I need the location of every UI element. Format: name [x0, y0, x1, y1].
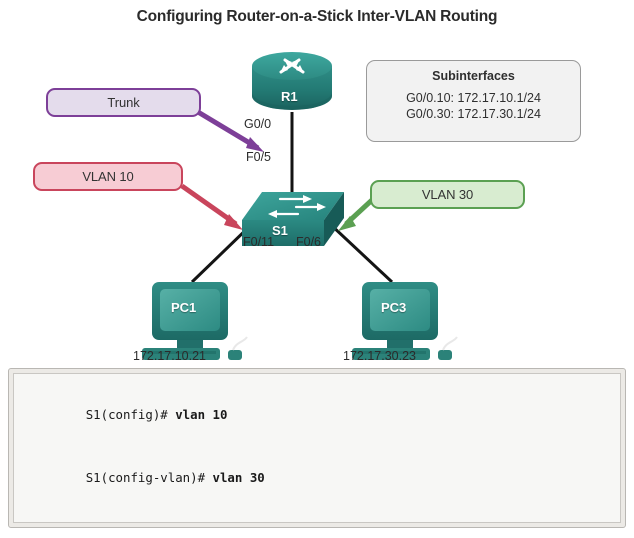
callout-vlan30-label: VLAN 30: [422, 187, 473, 202]
ip-label-pc3: 172.17.30.23: [343, 349, 416, 363]
pc-label-pc1: PC1: [171, 300, 196, 315]
subinterface-line-2: G0/0.30: 172.17.30.1/24: [406, 106, 541, 122]
callout-vlan10-label: VLAN 10: [82, 169, 133, 184]
callout-vlan30[interactable]: VLAN 30: [370, 180, 525, 209]
callout-trunk-label: Trunk: [107, 95, 139, 110]
cli-command: vlan 30: [213, 470, 265, 485]
subinterfaces-list: G0/0.10: 172.17.10.1/24 G0/0.30: 172.17.…: [406, 90, 541, 122]
router-label-r1: R1: [281, 89, 298, 104]
callout-trunk[interactable]: Trunk: [46, 88, 201, 117]
network-topology-diagram: R1 S1 PC1 PC3 G0/0 F0/5 F0/11 F0/6 172.1…: [0, 34, 634, 364]
cli-prompt: S1(config-vlan)#: [86, 470, 213, 485]
port-label-f0-5: F0/5: [246, 150, 271, 164]
port-label-g0-0: G0/0: [244, 117, 271, 131]
diagram-page: Configuring Router-on-a-Stick Inter-VLAN…: [0, 0, 634, 538]
pc-label-pc3: PC3: [381, 300, 406, 315]
link-s1-to-pc3: [330, 224, 392, 282]
cli-line: S1(config-vlan)# interface f0/5: [26, 509, 610, 523]
subinterfaces-heading: Subinterfaces: [432, 69, 515, 83]
vlan10-callout-arrow: [182, 186, 243, 230]
cli-line: S1(config-vlan)# vlan 30: [26, 446, 610, 509]
ip-label-pc1: 172.17.10.21: [133, 349, 206, 363]
switch-label-s1: S1: [272, 223, 288, 238]
page-title: Configuring Router-on-a-Stick Inter-VLAN…: [0, 8, 634, 26]
cli-output-body[interactable]: S1(config)# vlan 10 S1(config-vlan)# vla…: [13, 373, 621, 523]
port-label-f0-6: F0/6: [296, 235, 321, 249]
port-label-f0-11: F0/11: [243, 235, 274, 249]
subinterfaces-panel: Subinterfaces G0/0.10: 172.17.10.1/24 G0…: [366, 60, 581, 142]
callout-vlan10[interactable]: VLAN 10: [33, 162, 183, 191]
cli-output-panel: S1(config)# vlan 10 S1(config-vlan)# vla…: [8, 368, 626, 528]
cli-line: S1(config)# vlan 10: [26, 383, 610, 446]
subinterface-line-1: G0/0.10: 172.17.10.1/24: [406, 90, 541, 106]
cli-prompt: S1(config)#: [86, 407, 176, 422]
cli-command: vlan 10: [175, 407, 227, 422]
